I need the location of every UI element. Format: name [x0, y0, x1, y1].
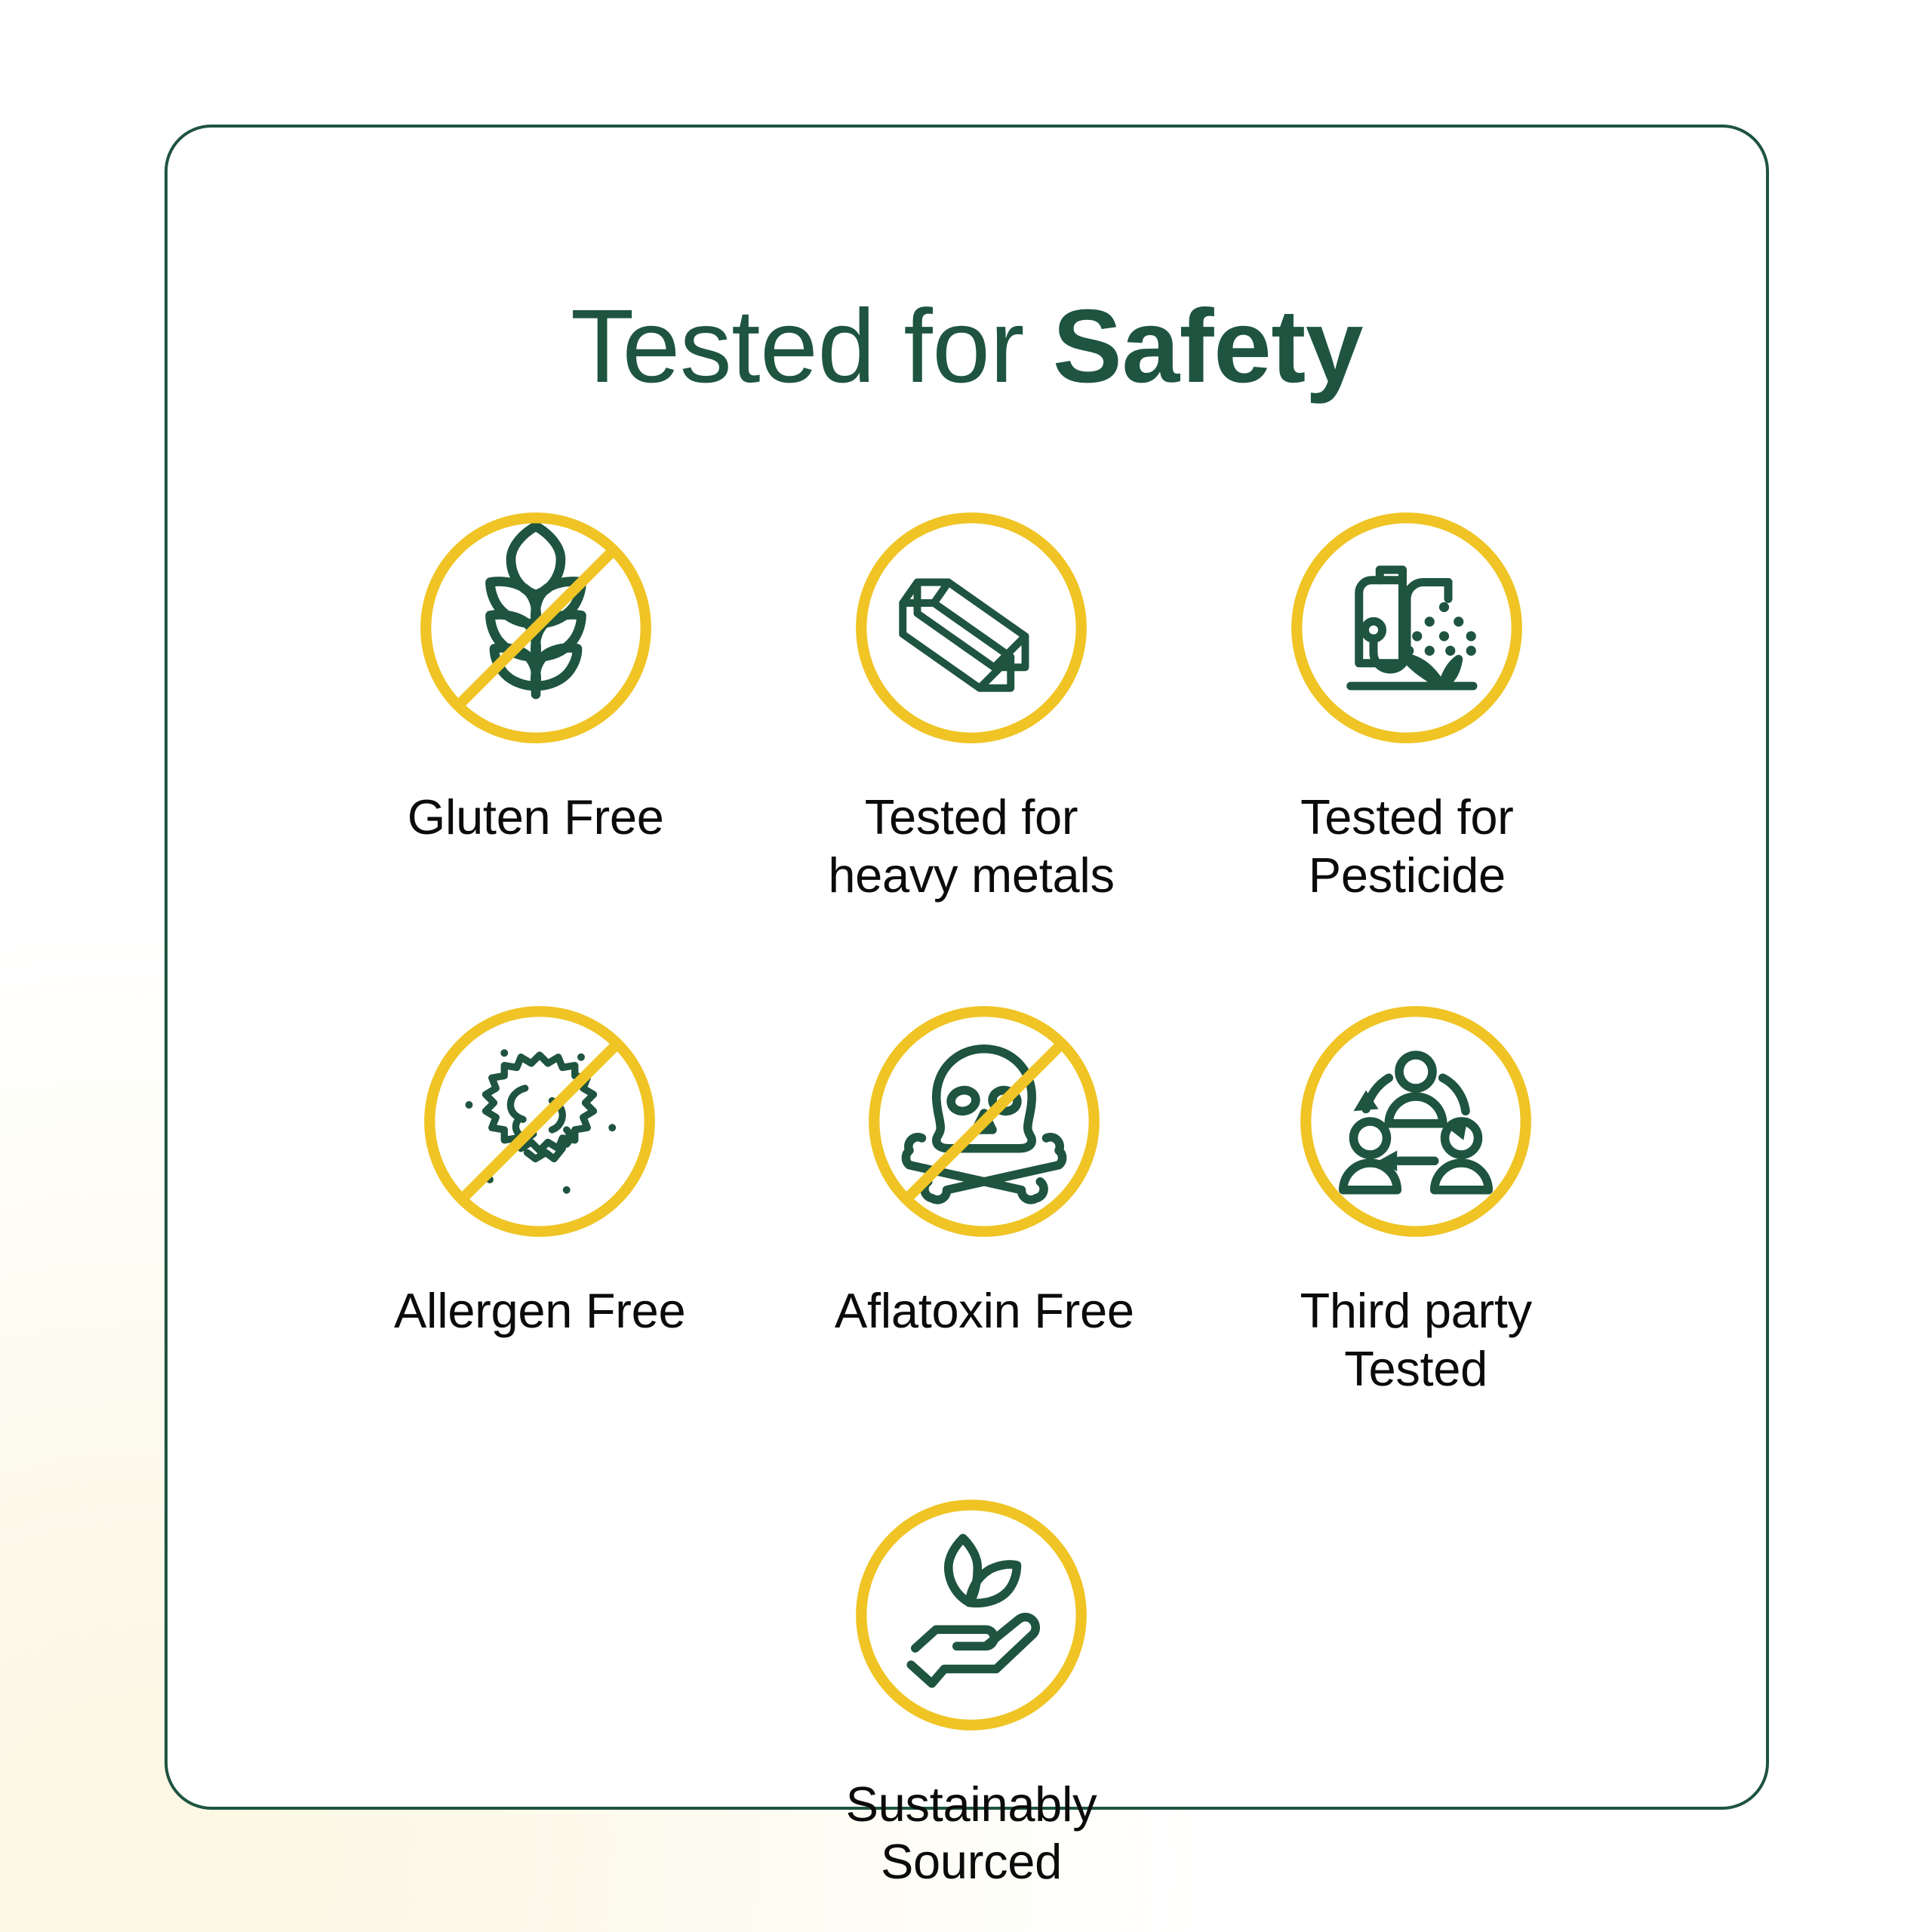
badge-grid: Gluten Free: [394, 503, 1549, 1891]
hand-holding-leaves-icon: [847, 1491, 1096, 1740]
infographic-page: Tested for Safety: [0, 0, 1932, 1932]
badge-tested-heavy-metals[interactable]: Tested for heavy metals: [828, 503, 1114, 904]
badge-caption: Third party Tested: [1300, 1282, 1531, 1398]
wheat-stalk-icon: [411, 503, 660, 752]
skull-crossbones-icon: [860, 997, 1109, 1246]
badge-tested-pesticide[interactable]: Tested for Pesticide: [1266, 503, 1549, 904]
badge-caption: Tested for Pesticide: [1300, 789, 1513, 904]
badge-gluten-free[interactable]: Gluten Free: [394, 503, 677, 847]
caption-line: Tested: [1300, 1340, 1531, 1398]
badge-row-1: Gluten Free: [394, 503, 1549, 904]
caption-line: heavy metals: [828, 847, 1114, 905]
page-title: Tested for Safety: [168, 292, 1766, 401]
badge-caption: Aflatoxin Free: [835, 1282, 1134, 1340]
caption-line: Sourced: [846, 1833, 1097, 1891]
badge-row-2: Allergen Free: [394, 997, 1549, 1398]
badge-caption: Tested for heavy metals: [828, 789, 1114, 904]
caption-line: Tested for: [828, 789, 1114, 847]
caption-line: Allergen Free: [394, 1282, 685, 1340]
caption-line: Third party: [1300, 1282, 1531, 1340]
badge-third-party-tested[interactable]: Third party Tested: [1283, 997, 1549, 1398]
safety-card: Tested for Safety: [165, 125, 1769, 1810]
title-bold-text: Safety: [1053, 288, 1363, 405]
caption-line: Pesticide: [1300, 847, 1513, 905]
badge-sustainably-sourced[interactable]: Sustainably Sourced: [823, 1491, 1119, 1891]
metal-ingots-icon: [847, 503, 1096, 752]
three-people-cycle-icon: [1291, 997, 1540, 1246]
badge-caption: Gluten Free: [408, 789, 664, 847]
badge-row-3: Sustainably Sourced: [394, 1491, 1549, 1891]
caption-line: Sustainably: [846, 1776, 1097, 1834]
caption-line: Aflatoxin Free: [835, 1282, 1134, 1340]
caption-line: Tested for: [1300, 789, 1513, 847]
badge-allergen-free[interactable]: Allergen Free: [394, 997, 685, 1340]
badge-caption: Sustainably Sourced: [846, 1776, 1097, 1891]
title-plain-text: Tested for: [571, 288, 1053, 405]
allergen-pollen-icon: [415, 997, 664, 1246]
caption-line: Gluten Free: [408, 789, 664, 847]
pesticide-sprayer-icon: [1282, 503, 1531, 752]
badge-caption: Allergen Free: [394, 1282, 685, 1340]
badge-aflatoxin-free[interactable]: Aflatoxin Free: [836, 997, 1132, 1340]
